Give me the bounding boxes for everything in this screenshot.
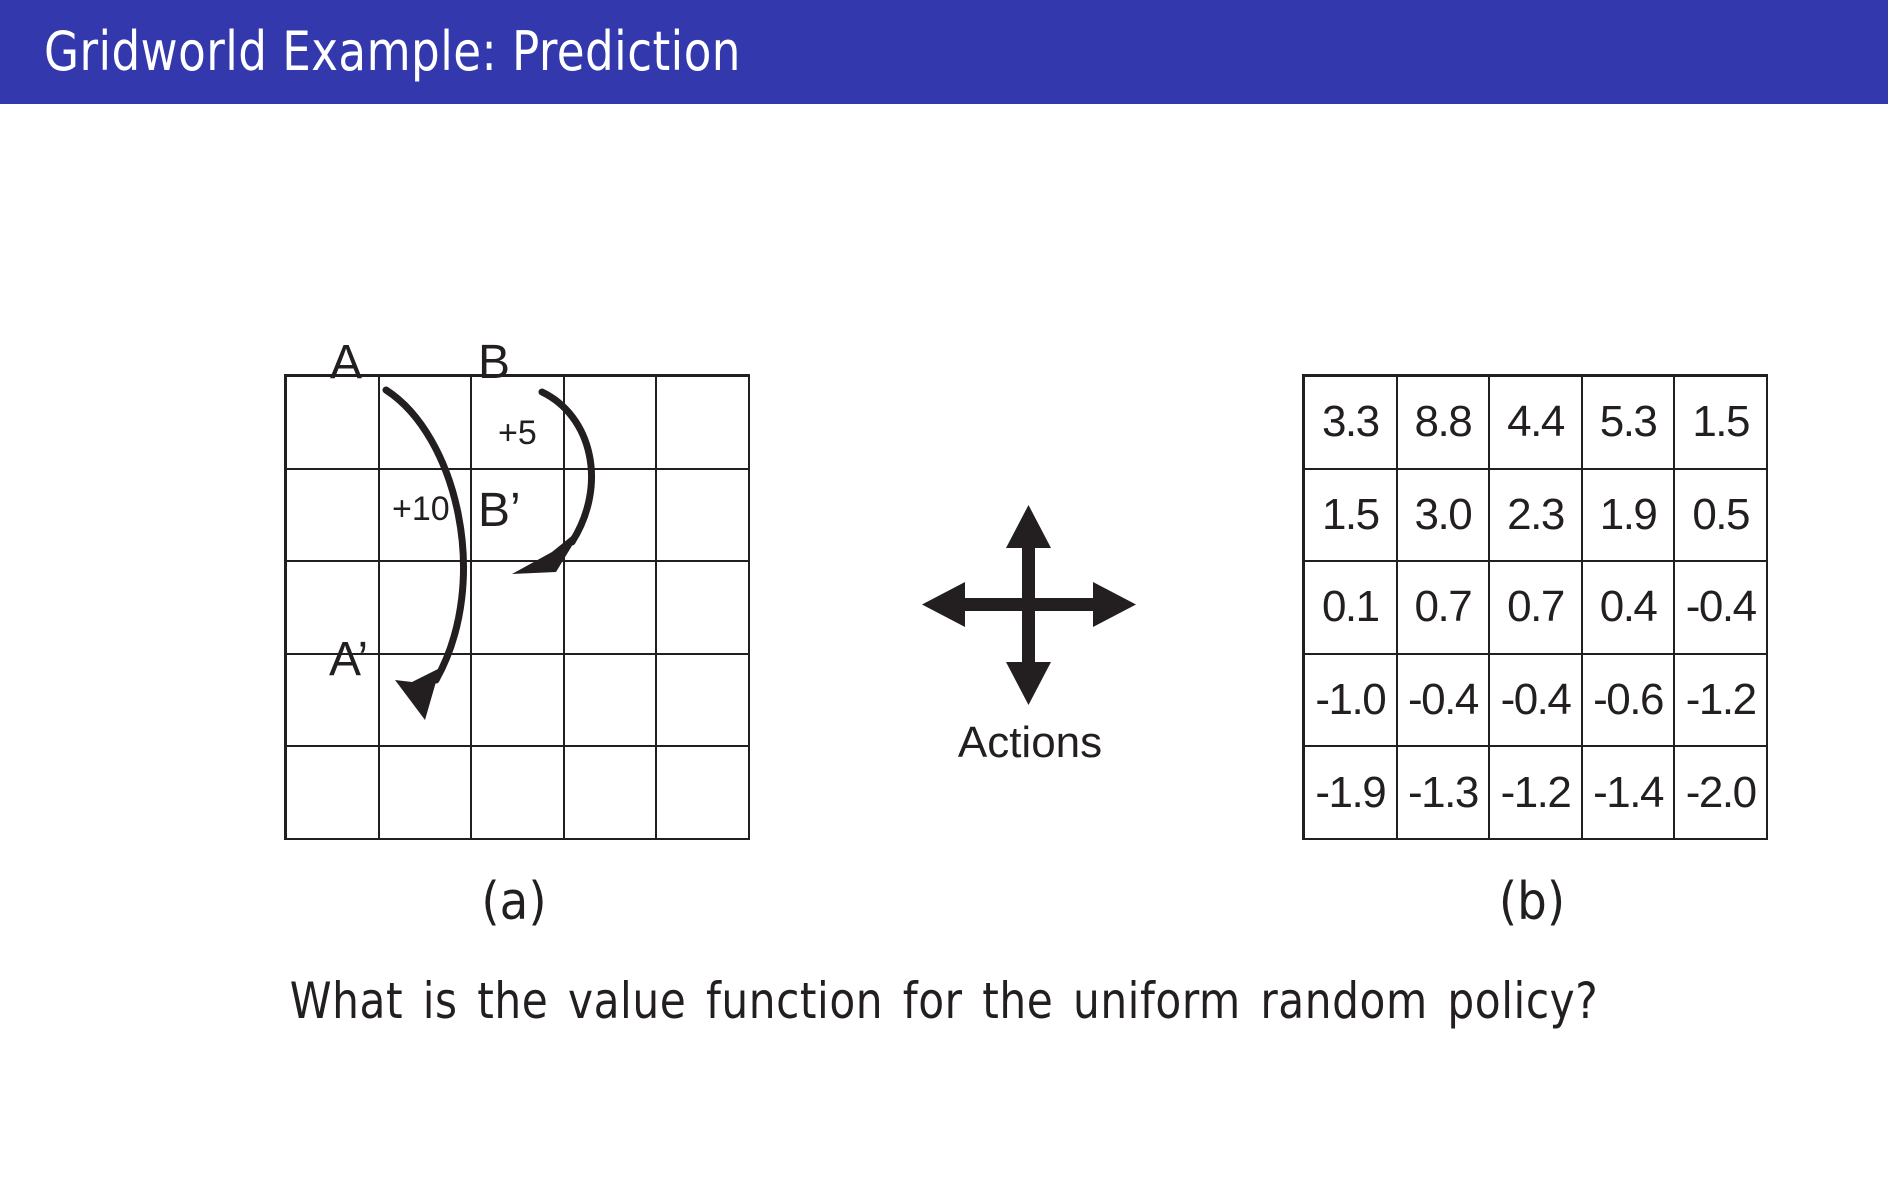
value-function-grid: 3.3 8.8 4.4 5.3 1.5 1.5 3.0 2.3 1.9 0.5 … <box>1302 374 1768 840</box>
grid-a-cell-r4c3 <box>472 655 565 748</box>
value-cell-r5c1: -1.9 <box>1305 747 1398 840</box>
grid-a-cell-r1c1 <box>287 377 380 470</box>
question-text: What is the value function for the unifo… <box>57 972 1832 1030</box>
value-text: -1.2 <box>1501 768 1571 818</box>
caption-panel-a: (a) <box>414 872 614 932</box>
state-label-b-prime: B’ <box>478 483 521 538</box>
value-cell-r2c2: 3.0 <box>1398 470 1491 563</box>
value-cell-r1c5: 1.5 <box>1675 377 1768 470</box>
value-cell-r2c4: 1.9 <box>1583 470 1676 563</box>
grid-a-cell-r3c3 <box>472 562 565 655</box>
value-text: 3.3 <box>1322 397 1379 447</box>
value-text: -1.0 <box>1315 675 1385 725</box>
value-text: 2.3 <box>1507 490 1564 540</box>
value-text: -1.4 <box>1593 768 1663 818</box>
value-text: 0.4 <box>1600 582 1657 632</box>
caption-panel-b: (b) <box>1432 872 1632 932</box>
value-text: 0.7 <box>1415 582 1472 632</box>
reward-label-plus-10: +10 <box>392 490 450 529</box>
value-text: 4.4 <box>1507 397 1564 447</box>
value-text: -1.9 <box>1315 768 1385 818</box>
value-text: -1.3 <box>1408 768 1478 818</box>
value-cell-r5c3: -1.2 <box>1490 747 1583 840</box>
grid-a-cell-r1c2 <box>380 377 473 470</box>
grid-a-cell-r5c3 <box>472 747 565 840</box>
value-cell-r3c4: 0.4 <box>1583 562 1676 655</box>
grid-a-cell-r5c1 <box>287 747 380 840</box>
grid-a-cell-r5c2 <box>380 747 473 840</box>
grid-a-cell-r3c5 <box>657 562 750 655</box>
grid-a-cell-r5c5 <box>657 747 750 840</box>
value-text: 5.3 <box>1600 397 1657 447</box>
value-text: 0.1 <box>1322 582 1379 632</box>
value-text: -1.2 <box>1686 675 1756 725</box>
grid-a-cell-r3c4 <box>565 562 658 655</box>
value-text: 0.7 <box>1507 582 1564 632</box>
grid-a-cell-r1c4 <box>565 377 658 470</box>
state-label-a-prime: A’ <box>329 632 368 687</box>
value-text: 3.0 <box>1415 490 1472 540</box>
value-cell-r1c1: 3.3 <box>1305 377 1398 470</box>
value-cell-r5c5: -2.0 <box>1675 747 1768 840</box>
actions-block: Actions <box>905 500 1155 800</box>
value-cell-r3c5: -0.4 <box>1675 562 1768 655</box>
value-text: -0.6 <box>1593 675 1663 725</box>
page-title: Gridworld Example: Prediction <box>44 16 741 88</box>
value-cell-r3c3: 0.7 <box>1490 562 1583 655</box>
value-cell-r2c1: 1.5 <box>1305 470 1398 563</box>
actions-label: Actions <box>905 718 1155 768</box>
value-text: -0.4 <box>1686 582 1756 632</box>
value-cell-r3c2: 0.7 <box>1398 562 1491 655</box>
grid-a-cell-r2c1 <box>287 470 380 563</box>
title-bar: Gridworld Example: Prediction <box>0 0 1888 104</box>
grid-a-cell-r5c4 <box>565 747 658 840</box>
value-cell-r1c4: 5.3 <box>1583 377 1676 470</box>
value-text: -0.4 <box>1501 675 1571 725</box>
value-cell-r4c5: -1.2 <box>1675 655 1768 748</box>
value-cell-r5c4: -1.4 <box>1583 747 1676 840</box>
state-label-b: B <box>478 335 510 390</box>
value-text: -2.0 <box>1686 768 1756 818</box>
grid-a-cell-r4c4 <box>565 655 658 748</box>
value-text: 1.5 <box>1692 397 1749 447</box>
value-cell-r5c2: -1.3 <box>1398 747 1491 840</box>
grid-a-cell-r4c2 <box>380 655 473 748</box>
value-cell-r4c1: -1.0 <box>1305 655 1398 748</box>
value-text: 1.9 <box>1600 490 1657 540</box>
value-cell-r4c2: -0.4 <box>1398 655 1491 748</box>
value-cell-r2c5: 0.5 <box>1675 470 1768 563</box>
four-way-arrow-cross-icon <box>905 500 1155 710</box>
grid-a-cell-r4c5 <box>657 655 750 748</box>
slide-root: Gridworld Example: Prediction A B B’ A’ … <box>0 0 1888 1186</box>
value-text: -0.4 <box>1408 675 1478 725</box>
value-cell-r4c4: -0.6 <box>1583 655 1676 748</box>
value-cell-r1c2: 8.8 <box>1398 377 1491 470</box>
value-text: 0.5 <box>1692 490 1749 540</box>
value-cell-r2c3: 2.3 <box>1490 470 1583 563</box>
state-label-a: A <box>330 335 362 390</box>
value-cell-r3c1: 0.1 <box>1305 562 1398 655</box>
value-cell-r4c3: -0.4 <box>1490 655 1583 748</box>
grid-a-cell-r2c5 <box>657 470 750 563</box>
grid-a-cell-r2c4 <box>565 470 658 563</box>
grid-a-cell-r3c2 <box>380 562 473 655</box>
value-text: 1.5 <box>1322 490 1379 540</box>
value-cell-r1c3: 4.4 <box>1490 377 1583 470</box>
grid-a-cell-r1c5 <box>657 377 750 470</box>
value-text: 8.8 <box>1415 397 1472 447</box>
reward-label-plus-5: +5 <box>498 414 537 453</box>
